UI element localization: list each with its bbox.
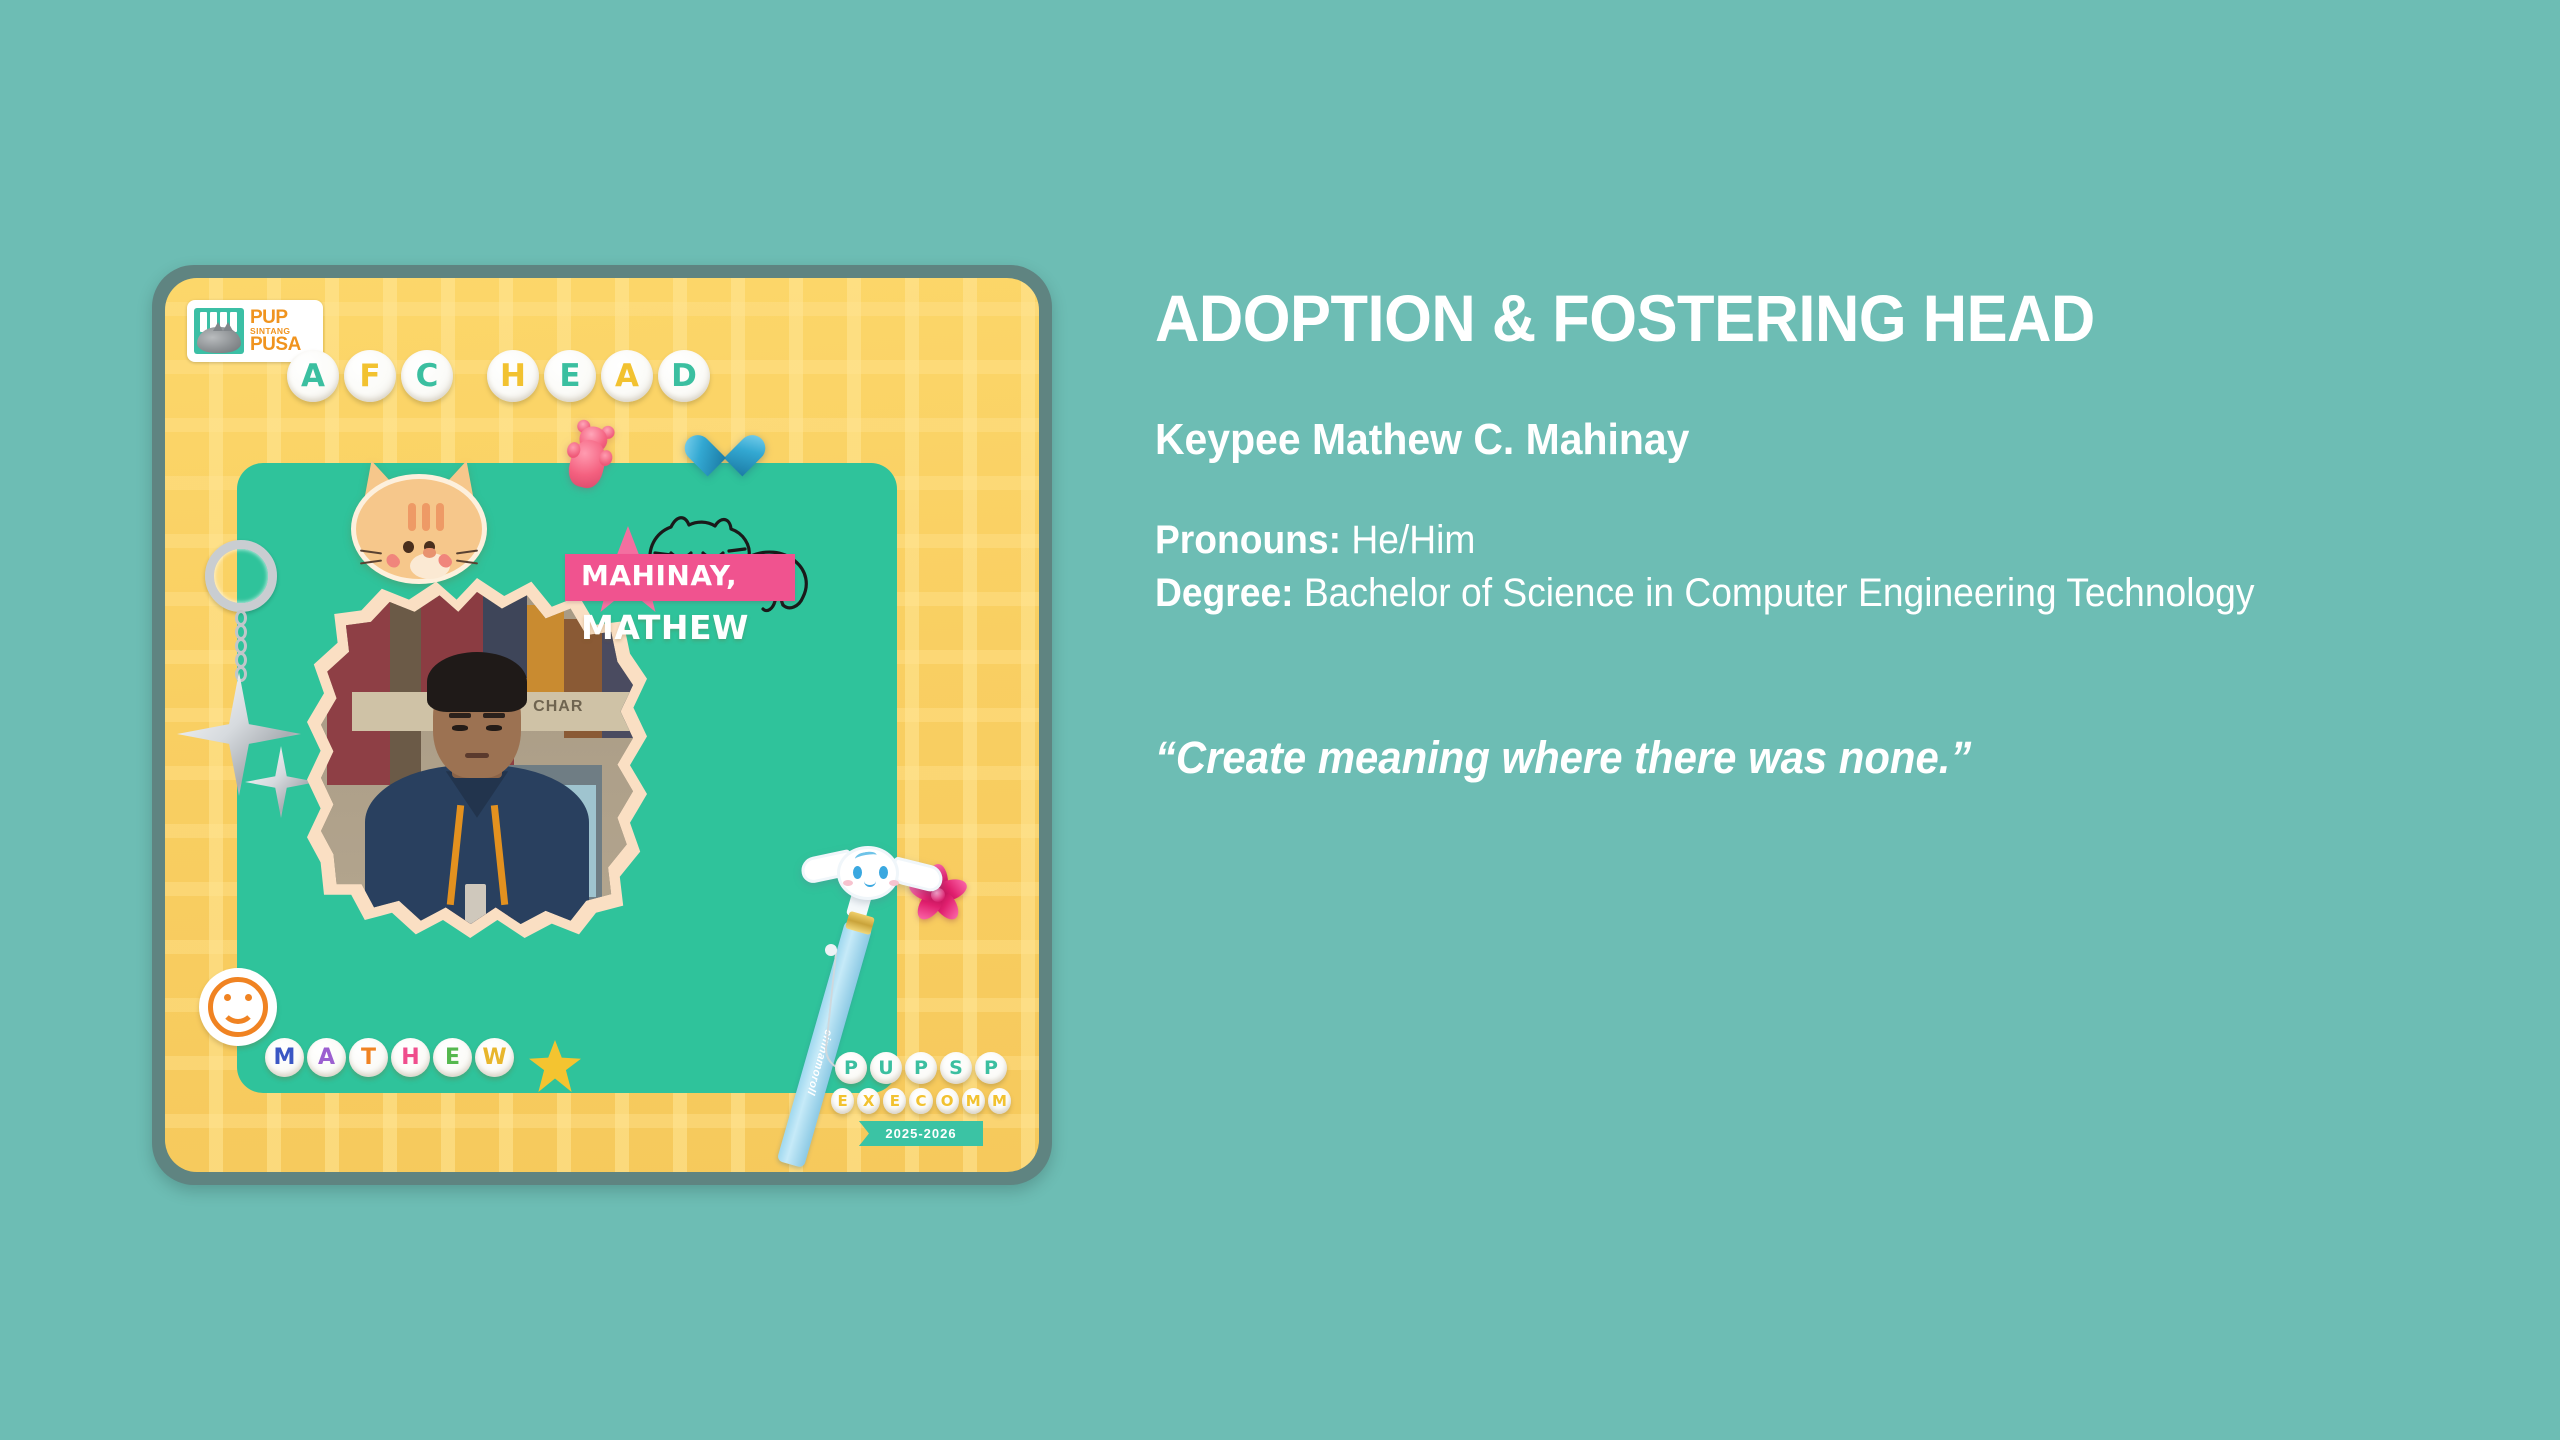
photo-building-sign: CHAR [533, 698, 583, 716]
cat-head-sticker-icon [345, 460, 493, 586]
blue-heart-gem-icon [700, 418, 750, 464]
name-banner-line1: MAHINAY, [581, 559, 737, 592]
bead-letter: C [909, 1088, 932, 1114]
name-banner-line2: MATHEW [581, 608, 749, 647]
keyring-icon [205, 540, 277, 612]
poster-card: PUP SINTANG PUSA AFCHEAD [152, 265, 1052, 1185]
poster-frame: PUP SINTANG PUSA AFCHEAD [152, 265, 1052, 1185]
bead-letter: P [905, 1052, 937, 1084]
poster-page: PUP SINTANG PUSA AFCHEAD [0, 0, 2560, 1440]
org-logo-line1: PUP [250, 308, 301, 327]
execomm-year-ribbon: 2025-2026 [859, 1121, 983, 1146]
bead-letter: U [870, 1052, 902, 1084]
person-name: Keypee Mathew C. Mahinay [1155, 414, 2299, 467]
sleeping-cat-icon [197, 327, 241, 353]
bead-letter: A [287, 350, 339, 402]
bead-letter: O [936, 1088, 959, 1114]
bead-letter: D [658, 350, 710, 402]
bead-letter: W [475, 1038, 514, 1077]
personal-quote: “Create meaning where there was none.” [1155, 731, 2299, 785]
bead-letter: A [307, 1038, 346, 1077]
org-logo-mark-icon [194, 308, 244, 354]
poster-canvas: PUP SINTANG PUSA AFCHEAD [165, 278, 1039, 1172]
bead-letter: A [601, 350, 653, 402]
bead-letter: T [349, 1038, 388, 1077]
execomm-line2-beads: EXECOMM [831, 1088, 1011, 1114]
cinnamoroll-topper-icon [807, 840, 931, 910]
meta-block: Pronouns: He/Him Degree: Bachelor of Sci… [1155, 515, 2299, 619]
bead-letter: H [391, 1038, 430, 1077]
bead-letter: H [487, 350, 539, 402]
name-bead-row: MATHEW [265, 1038, 514, 1077]
bead-letter: S [940, 1052, 972, 1084]
info-column: ADOPTION & FOSTERING HEAD Keypee Mathew … [1155, 280, 2385, 785]
title-bead-row: AFCHEAD [287, 350, 710, 402]
degree-row: Degree: Bachelor of Science in Computer … [1155, 568, 2299, 619]
bead-letter: P [975, 1052, 1007, 1084]
bead-letter: C [401, 350, 453, 402]
bead-letter: M [265, 1038, 304, 1077]
smiley-face-sticker-icon [199, 968, 277, 1046]
bead-letter: M [962, 1088, 985, 1114]
degree-label: Degree: [1155, 571, 1294, 615]
bead-letter: E [544, 350, 596, 402]
name-banner: MAHINAY, [565, 554, 795, 601]
bead-letter: E [883, 1088, 906, 1114]
chain-icon [235, 610, 247, 682]
bead-letter: E [831, 1088, 854, 1114]
bead-letter: F [344, 350, 396, 402]
bead-letter: E [433, 1038, 472, 1077]
role-title: ADOPTION & FOSTERING HEAD [1155, 280, 2299, 358]
bead-letter: M [988, 1088, 1011, 1114]
execomm-badge: PUPSP EXECOMM 2025-2026 [831, 1052, 1011, 1146]
org-logo-text: PUP SINTANG PUSA [250, 308, 301, 355]
bead-letter: X [857, 1088, 880, 1114]
keychain-sparkle-decoration [183, 540, 303, 820]
execomm-line1-beads: PUPSP [831, 1052, 1011, 1084]
degree-value: Bachelor of Science in Computer Engineer… [1304, 571, 2255, 615]
bead-letter: P [835, 1052, 867, 1084]
pen-strap-bead [825, 944, 837, 956]
pronouns-value: He/Him [1351, 518, 1475, 562]
pronouns-row: Pronouns: He/Him [1155, 515, 2299, 566]
pronouns-label: Pronouns: [1155, 518, 1341, 562]
